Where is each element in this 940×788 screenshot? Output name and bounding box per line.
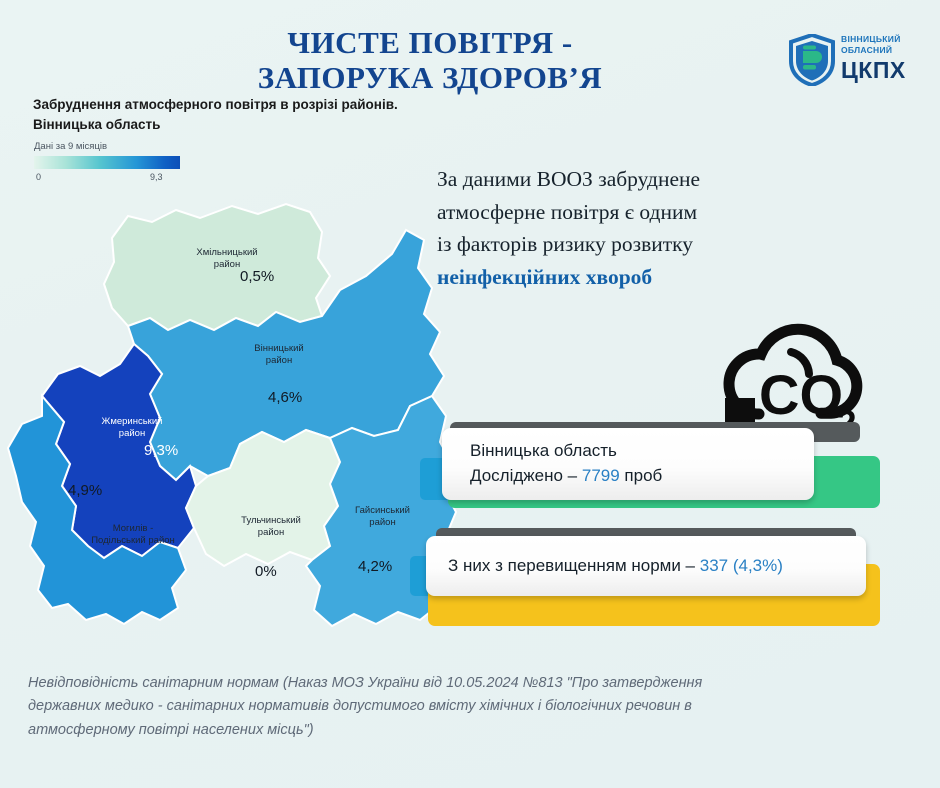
logo-text: ВІННИЦЬКИЙ ОБЛАСНИЙ ЦКПХ	[841, 34, 906, 82]
statement-highlight: неінфекційних хвороб	[437, 265, 652, 289]
statement-line1: За даними ВООЗ забруднене	[437, 167, 700, 191]
callout-line1-prefix: З них з перевищенням норми –	[448, 556, 700, 575]
infographic-page: ЧИСТЕ ПОВІТРЯ - ЗАПОРУКА ЗДОРОВ’Я ВІННИЦ…	[0, 0, 940, 788]
page-title-line2: ЗАПОРУКА ЗДОРОВ’Я	[0, 61, 860, 96]
map-svg	[0, 180, 480, 650]
legend-gradient-bar	[34, 156, 180, 169]
callout-card: З них з перевищенням норми – 337 (4,3%)	[426, 536, 866, 596]
logo-line2: ОБЛАСНИЙ	[841, 45, 906, 56]
callout-line1-number: 337 (4,3%)	[700, 556, 783, 575]
organization-logo: ВІННИЦЬКИЙ ОБЛАСНИЙ ЦКПХ	[789, 32, 919, 90]
callout-samples-tested: Вінницька область Досліджено – 7799 проб	[420, 412, 880, 520]
footnote-line1: Невідповідність санітарним нормам (Наказ…	[28, 675, 702, 691]
shield-logo-icon	[789, 34, 835, 86]
region-khmilnytskyi[interactable]	[104, 204, 330, 330]
who-statement: За даними ВООЗ забруднене атмосферне пов…	[437, 163, 812, 294]
logo-acronym: ЦКПХ	[841, 59, 906, 82]
map-subtitle-line2: Вінницька область	[33, 117, 160, 132]
callout-line2-suffix: проб	[620, 466, 663, 485]
callout-line1: Вінницька область	[442, 439, 814, 464]
footnote-line3: атмосферному повітрі населених місць")	[28, 722, 314, 738]
callout-line1: З них з перевищенням норми – 337 (4,3%)	[426, 554, 866, 579]
map-value-mohyliv-podilskyi: 4,9%	[68, 482, 102, 499]
callout-card: Вінницька область Досліджено – 7799 проб	[442, 428, 814, 500]
page-title-line1: ЧИСТЕ ПОВІТРЯ -	[287, 25, 572, 60]
callout-line2-number: 7799	[582, 466, 620, 485]
footnote: Невідповідність санітарним нормам (Наказ…	[28, 672, 918, 742]
vinnytsia-region-map: Хмільницький район 0,5% Вінницький район…	[0, 180, 480, 650]
footnote-line2: державних медико - санітарних нормативів…	[28, 698, 692, 714]
logo-line1: ВІННИЦЬКИЙ	[841, 34, 906, 45]
statement-line3: із факторів ризику розвитку	[437, 232, 693, 256]
callout-line2: Досліджено – 7799 проб	[442, 464, 814, 489]
map-value-vinnytskyi: 4,6%	[268, 389, 302, 406]
map-subtitle: Забруднення атмосферного повітря в розрі…	[33, 95, 453, 134]
page-title: ЧИСТЕ ПОВІТРЯ - ЗАПОРУКА ЗДОРОВ’Я	[0, 26, 860, 95]
map-value-zhmerynskyi: 9,3%	[144, 442, 178, 459]
map-subtitle-line1: Забруднення атмосферного повітря в розрі…	[33, 97, 398, 112]
statement-line2: атмосферне повітря є одним	[437, 200, 697, 224]
legend-caption: Дані за 9 місяців	[34, 141, 107, 152]
callout-exceedances: З них з перевищенням норми – 337 (4,3%)	[410, 522, 890, 630]
map-value-haisynskyi: 4,2%	[358, 558, 392, 575]
callout-line2-prefix: Досліджено –	[470, 466, 582, 485]
map-value-tulchynskyi: 0%	[255, 563, 277, 580]
map-value-khmilnytskyi: 0,5%	[240, 268, 274, 285]
